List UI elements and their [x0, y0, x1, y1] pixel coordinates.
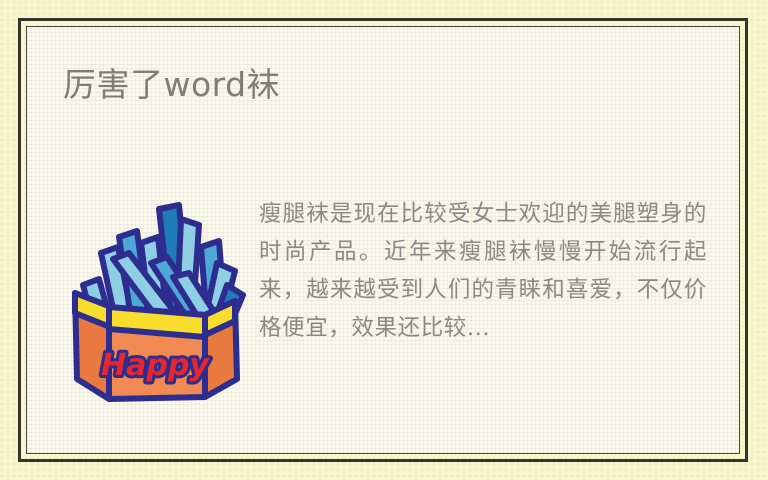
article-body-text: 瘦腿袜是现在比较受女士欢迎的美腿塑身的时尚产品。近年来瘦腿袜慢慢开始流行起来，越…	[259, 195, 707, 347]
box-band-front	[109, 307, 205, 337]
slide-card: 厉害了word袜	[0, 0, 768, 480]
french-fries-box-illustration: Happy Happy	[55, 193, 255, 409]
fries-illustration-svg: Happy Happy	[55, 193, 255, 409]
inner-paper-panel: 厉害了word袜	[26, 26, 740, 454]
box-label-text-fill: Happy	[101, 348, 210, 383]
page-title: 厉害了word袜	[63, 65, 280, 105]
